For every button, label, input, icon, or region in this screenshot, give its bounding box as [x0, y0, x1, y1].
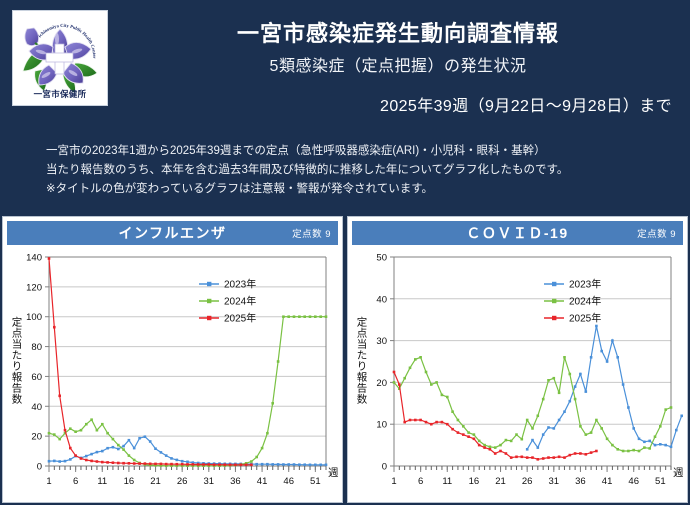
series-marker	[314, 315, 317, 318]
series-marker	[632, 427, 635, 430]
page-header: Ichinomiya City Public Health Center	[0, 0, 690, 216]
series-marker	[478, 444, 481, 447]
series-marker	[176, 459, 179, 462]
series-marker	[202, 463, 205, 466]
series-marker	[90, 418, 93, 421]
series-marker	[112, 438, 115, 441]
series-marker	[85, 455, 88, 458]
y-tick-label: 60	[31, 372, 42, 383]
series-marker	[579, 452, 582, 455]
series-marker	[457, 419, 460, 422]
series-marker	[74, 454, 77, 457]
series-marker	[600, 350, 603, 353]
series-marker	[80, 457, 83, 460]
series-marker	[441, 421, 444, 424]
series-marker	[53, 433, 56, 436]
series-marker	[271, 402, 274, 405]
x-axis-title: 週	[673, 467, 684, 479]
series-marker	[616, 448, 619, 451]
series-marker	[505, 439, 508, 442]
series-marker	[553, 377, 556, 380]
series-marker	[467, 431, 470, 434]
series-marker	[160, 463, 163, 466]
series-marker	[117, 462, 120, 465]
series-marker	[298, 463, 301, 466]
x-tick-label: 6	[418, 476, 423, 487]
series-marker	[489, 448, 492, 451]
x-tick-label: 41	[257, 476, 268, 487]
series-marker	[627, 406, 630, 409]
series-marker	[96, 460, 99, 463]
health-center-logo: Ichinomiya City Public Health Center	[12, 10, 108, 106]
legend-label: 2024年	[224, 295, 256, 308]
series-line	[394, 357, 671, 451]
series-marker	[398, 383, 401, 386]
x-tick-label: 41	[602, 476, 613, 487]
series-marker	[499, 450, 502, 453]
series-marker	[176, 463, 179, 466]
legend-label: 2023年	[569, 278, 601, 291]
series-marker	[574, 452, 577, 455]
series-marker	[96, 451, 99, 454]
series-marker	[515, 456, 518, 459]
series-marker	[590, 356, 593, 359]
series-marker	[138, 462, 141, 465]
x-tick-label: 11	[97, 476, 107, 487]
series-marker	[542, 398, 545, 401]
series-marker	[595, 419, 598, 422]
series-marker	[319, 315, 322, 318]
series-marker	[255, 463, 258, 466]
y-tick-label: 50	[376, 253, 387, 264]
chart-area-influenza: 02040608010012014016111621263136414651週定…	[3, 245, 342, 502]
series-marker	[531, 427, 534, 430]
series-marker	[638, 438, 641, 441]
series-marker	[48, 460, 51, 463]
series-marker	[414, 358, 417, 361]
series-marker	[64, 460, 67, 463]
series-marker	[298, 315, 301, 318]
series-marker	[122, 462, 125, 465]
series-marker	[547, 456, 550, 459]
y-tick-label: 40	[376, 294, 387, 305]
series-marker	[133, 462, 136, 465]
series-marker	[90, 453, 93, 456]
series-marker	[627, 450, 630, 453]
series-line	[49, 259, 251, 465]
series-marker	[521, 438, 524, 441]
legend-label: 2025年	[224, 312, 256, 325]
series-marker	[654, 444, 657, 447]
y-tick-label: 20	[31, 432, 42, 443]
series-marker	[106, 432, 109, 435]
x-tick-label: 46	[628, 476, 639, 487]
series-marker	[218, 463, 221, 466]
series-marker	[58, 438, 61, 441]
page-title: 一宮市感染症発生動向調査情報	[120, 16, 676, 48]
series-marker	[106, 461, 109, 464]
panel-title-covid19: ＣＯＶＩＤ-19	[352, 223, 683, 243]
series-marker	[467, 435, 470, 438]
legend-label: 2025年	[569, 312, 601, 325]
series-marker	[537, 446, 540, 449]
series-marker	[430, 423, 433, 426]
series-marker	[494, 452, 497, 455]
series-marker	[85, 423, 88, 426]
series-marker	[558, 419, 561, 422]
series-marker	[563, 456, 566, 459]
chart-area-covid19: 0102030405016111621263136414651週定点当たり報告数…	[348, 245, 687, 502]
x-tick-label: 46	[283, 476, 294, 487]
series-marker	[473, 433, 476, 436]
series-marker	[675, 429, 678, 432]
series-marker	[122, 445, 125, 448]
series-marker	[659, 425, 662, 428]
series-marker	[462, 425, 465, 428]
series-marker	[611, 444, 614, 447]
series-marker	[590, 451, 593, 454]
series-marker	[526, 448, 529, 451]
series-marker	[595, 325, 598, 328]
x-tick-label: 16	[469, 476, 480, 487]
x-tick-label: 1	[391, 476, 396, 487]
description-line-3: ※タイトルの色が変わっているグラフは注意報・警報が発令されています。	[46, 180, 674, 199]
series-marker	[293, 315, 296, 318]
series-marker	[521, 456, 524, 459]
series-marker	[569, 400, 572, 403]
series-marker	[309, 464, 312, 467]
x-tick-label: 36	[575, 476, 586, 487]
series-marker	[154, 463, 157, 466]
series-marker	[537, 415, 540, 418]
chart-panel-covid19: ＣＯＶＩＤ-19 定点数 9 0102030405016111621263136…	[347, 216, 688, 503]
series-marker	[128, 439, 131, 442]
series-marker	[319, 464, 322, 467]
series-marker	[403, 421, 406, 424]
y-tick-label: 100	[26, 312, 42, 323]
y-tick-label: 20	[376, 378, 387, 389]
series-marker	[446, 396, 449, 399]
series-marker	[144, 462, 147, 465]
y-axis-title-char: 数	[12, 393, 23, 406]
series-marker	[414, 419, 417, 422]
series-marker	[531, 456, 534, 459]
series-marker	[563, 356, 566, 359]
x-tick-label: 6	[73, 476, 78, 487]
x-tick-label: 26	[177, 476, 188, 487]
series-marker	[266, 432, 269, 435]
series-marker	[144, 435, 147, 438]
series-marker	[128, 462, 131, 465]
series-marker	[149, 440, 152, 443]
series-marker	[526, 456, 529, 459]
series-marker	[659, 443, 662, 446]
series-marker	[505, 452, 508, 455]
series-marker	[563, 410, 566, 413]
series-marker	[154, 447, 157, 450]
series-marker	[277, 360, 280, 363]
series-marker	[208, 463, 211, 466]
series-marker	[277, 463, 280, 466]
series-marker	[419, 356, 422, 359]
series-marker	[48, 257, 51, 260]
series-marker	[670, 446, 673, 449]
y-tick-label: 80	[31, 342, 42, 353]
series-marker	[170, 457, 173, 460]
y-tick-label: 30	[376, 336, 387, 347]
series-marker	[112, 461, 115, 464]
series-marker	[643, 441, 646, 444]
series-marker	[537, 458, 540, 461]
series-marker	[224, 463, 227, 466]
series-marker	[542, 433, 545, 436]
series-marker	[245, 464, 248, 467]
y-tick-label: 120	[26, 282, 42, 293]
series-marker	[261, 463, 264, 466]
series-marker	[441, 394, 444, 397]
chart-panel-influenza: インフルエンザ 定点数 9 02040608010012014016111621…	[2, 216, 343, 503]
series-marker	[234, 464, 237, 467]
x-tick-label: 51	[655, 476, 666, 487]
series-marker	[80, 429, 83, 432]
y-tick-label: 140	[26, 253, 42, 264]
panel-header-influenza: インフルエンザ 定点数 9	[7, 221, 338, 245]
series-marker	[271, 463, 274, 466]
report-period: 2025年39週（9月22日～9月28日）まで	[380, 92, 672, 116]
series-marker	[96, 429, 99, 432]
series-marker	[547, 426, 550, 429]
y-tick-label: 0	[382, 462, 387, 473]
series-marker	[664, 408, 667, 411]
series-marker	[600, 427, 603, 430]
series-marker	[165, 463, 168, 466]
series-marker	[430, 383, 433, 386]
page-subtitle: 5類感染症（定点把握）の発生状況	[120, 52, 676, 76]
series-marker	[393, 371, 396, 374]
x-axis-title: 週	[328, 467, 339, 479]
series-marker	[101, 461, 104, 464]
x-tick-label: 31	[549, 476, 560, 487]
series-marker	[325, 315, 328, 318]
series-marker	[165, 454, 168, 457]
series-marker	[473, 438, 476, 441]
series-marker	[58, 395, 61, 398]
series-marker	[293, 463, 296, 466]
sentinel-count-influenza: 定点数 9	[292, 226, 331, 240]
series-marker	[435, 421, 438, 424]
series-marker	[425, 421, 428, 424]
series-marker	[483, 446, 486, 449]
series-marker	[526, 419, 529, 422]
series-marker	[499, 444, 502, 447]
series-marker	[192, 463, 195, 466]
series-marker	[606, 438, 609, 441]
y-axis-title-char: 数	[357, 393, 368, 406]
series-marker	[250, 460, 253, 463]
series-marker	[419, 419, 422, 422]
series-marker	[287, 315, 290, 318]
series-marker	[48, 432, 51, 435]
series-marker	[547, 379, 550, 382]
series-marker	[531, 439, 534, 442]
series-marker	[229, 464, 232, 467]
series-marker	[632, 449, 635, 452]
series-marker	[138, 437, 141, 440]
series-marker	[149, 463, 152, 466]
series-marker	[325, 464, 328, 467]
logo-caption: 一宮市保健所	[13, 88, 107, 100]
series-marker	[250, 464, 253, 467]
x-tick-label: 51	[310, 476, 321, 487]
series-marker	[654, 435, 657, 438]
series-marker	[181, 460, 184, 463]
series-marker	[585, 453, 588, 456]
series-marker	[393, 381, 396, 384]
series-marker	[558, 456, 561, 459]
series-marker	[282, 315, 285, 318]
series-marker	[574, 385, 577, 388]
series-marker	[85, 459, 88, 462]
series-marker	[106, 447, 109, 450]
series-marker	[553, 427, 556, 430]
y-tick-label: 10	[376, 420, 387, 431]
series-marker	[58, 460, 61, 463]
series-marker	[425, 371, 428, 374]
series-marker	[558, 392, 561, 395]
sentinel-count-covid19: 定点数 9	[637, 226, 676, 240]
series-marker	[186, 463, 189, 466]
series-marker	[435, 381, 438, 384]
description-block: 一宮市の2023年1週から2025年39週までの定点（急性呼吸器感染症(ARI)…	[46, 142, 674, 199]
series-marker	[616, 356, 619, 359]
series-marker	[101, 423, 104, 426]
series-marker	[553, 456, 556, 459]
series-marker	[446, 423, 449, 426]
series-marker	[181, 463, 184, 466]
series-marker	[590, 431, 593, 434]
series-marker	[213, 463, 216, 466]
series-marker	[160, 451, 163, 454]
x-tick-label: 26	[522, 476, 533, 487]
series-marker	[680, 415, 683, 418]
series-marker	[510, 456, 513, 459]
series-marker	[515, 433, 518, 436]
series-marker	[287, 463, 290, 466]
series-marker	[240, 464, 243, 467]
series-marker	[186, 461, 189, 464]
series-marker	[569, 373, 572, 376]
series-marker	[638, 450, 641, 453]
series-marker	[128, 454, 131, 457]
series-marker	[170, 463, 173, 466]
chart-panels: インフルエンザ 定点数 9 02040608010012014016111621…	[0, 216, 690, 505]
series-marker	[451, 428, 454, 431]
series-marker	[133, 447, 136, 450]
series-marker	[64, 429, 67, 432]
series-marker	[122, 448, 125, 451]
series-marker	[494, 446, 497, 449]
series-marker	[622, 450, 625, 453]
series-marker	[483, 444, 486, 447]
series-marker	[648, 447, 651, 450]
series-marker	[451, 410, 454, 413]
series-marker	[409, 419, 412, 422]
series-marker	[664, 444, 667, 447]
series-marker	[579, 373, 582, 376]
series-marker	[197, 463, 200, 466]
series-marker	[622, 383, 625, 386]
series-marker	[117, 444, 120, 447]
panel-header-covid19: ＣＯＶＩＤ-19 定点数 9	[352, 221, 683, 245]
series-marker	[403, 377, 406, 380]
x-tick-label: 11	[442, 476, 452, 487]
x-tick-label: 21	[150, 476, 161, 487]
series-marker	[309, 315, 312, 318]
series-marker	[670, 406, 673, 409]
series-marker	[510, 440, 513, 443]
series-marker	[69, 458, 72, 461]
series-marker	[266, 463, 269, 466]
series-marker	[606, 360, 609, 363]
series-marker	[478, 440, 481, 443]
series-marker	[53, 326, 56, 329]
series-marker	[117, 448, 120, 451]
series-marker	[489, 446, 492, 449]
series-marker	[574, 398, 577, 401]
series-marker	[462, 433, 465, 436]
page-root: Ichinomiya City Public Health Center	[0, 0, 690, 505]
series-line	[49, 317, 326, 466]
series-marker	[457, 431, 460, 434]
series-marker	[595, 450, 598, 453]
series-marker	[255, 456, 258, 459]
series-marker	[542, 457, 545, 460]
series-marker	[585, 390, 588, 393]
series-marker	[69, 447, 72, 450]
y-tick-label: 40	[31, 402, 42, 413]
series-marker	[569, 454, 572, 457]
series-marker	[648, 440, 651, 443]
series-marker	[585, 433, 588, 436]
series-marker	[611, 339, 614, 342]
x-tick-label: 1	[46, 476, 51, 487]
description-line-1: 一宮市の2023年1週から2025年39週までの定点（急性呼吸器感染症(ARI)…	[46, 142, 674, 161]
x-tick-label: 16	[124, 476, 135, 487]
legend-label: 2024年	[569, 295, 601, 308]
x-tick-label: 36	[230, 476, 241, 487]
series-marker	[112, 446, 115, 449]
series-line	[394, 372, 596, 459]
series-marker	[74, 430, 77, 433]
x-tick-label: 31	[204, 476, 215, 487]
description-line-2: 当たり報告数のうち、本年を含む過去3年間及び特徴的に推移した年についてグラフ化し…	[46, 161, 674, 180]
series-marker	[69, 427, 72, 430]
series-marker	[643, 446, 646, 449]
series-marker	[409, 367, 412, 370]
legend-label: 2023年	[224, 278, 256, 291]
series-marker	[133, 459, 136, 462]
series-marker	[314, 464, 317, 467]
series-marker	[53, 460, 56, 463]
series-marker	[579, 425, 582, 428]
series-marker	[261, 447, 264, 450]
series-marker	[282, 463, 285, 466]
x-tick-label: 21	[495, 476, 506, 487]
panel-title-influenza: インフルエンザ	[7, 223, 338, 243]
series-marker	[303, 315, 306, 318]
series-marker	[101, 450, 104, 453]
y-tick-label: 0	[37, 462, 42, 473]
